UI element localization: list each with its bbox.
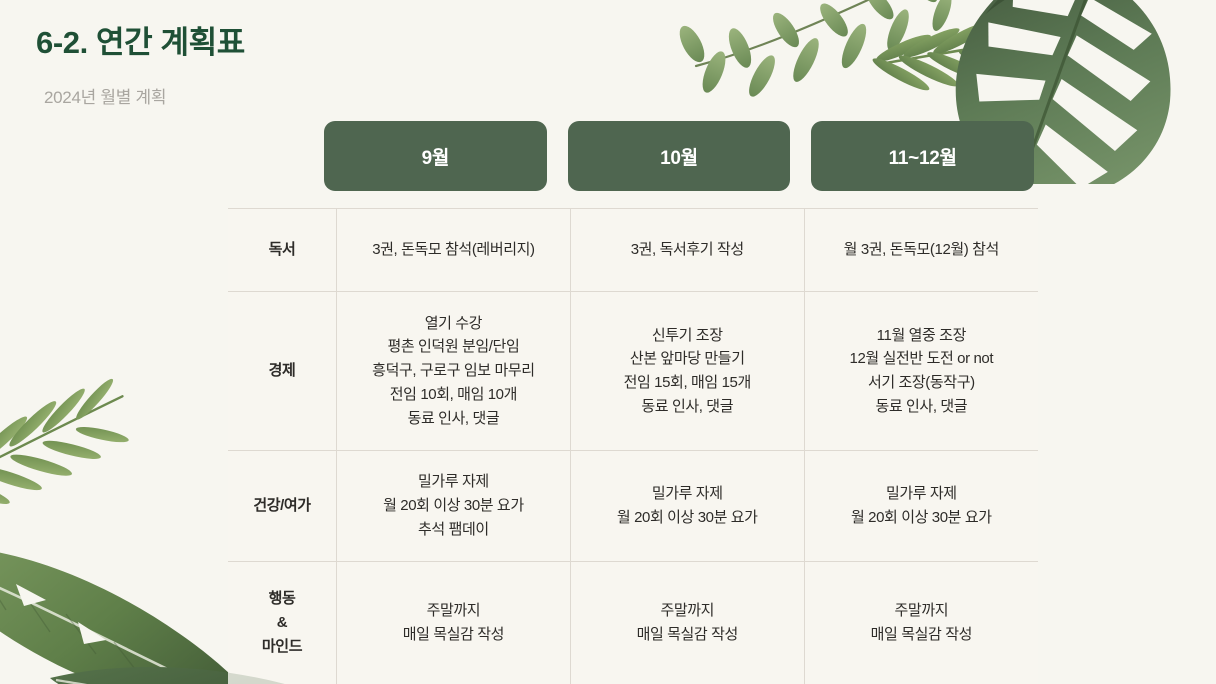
month-header-oct: 10월	[568, 121, 791, 191]
row-label-geongang: 건강/여가	[228, 451, 337, 562]
olive-branch-icon	[675, 0, 983, 100]
table-row: 독서 3권, 돈독모 참석(레버리지) 3권, 독서후기 작성 월 3권, 돈독…	[228, 209, 1038, 292]
cell-dokseo-nov-dec: 월 3권, 돈독모(12월) 참석	[804, 209, 1038, 292]
cell-dokseo-sep: 3권, 돈독모 참석(레버리지)	[337, 209, 571, 292]
cell-haengdong-sep: 주말까지 매일 목실감 작성	[337, 562, 571, 684]
month-header-label: 10월	[660, 143, 698, 170]
banana-leaf-icon	[0, 546, 264, 684]
cell-geongang-oct: 밀가루 자제 월 20회 이상 30분 요가	[570, 451, 804, 562]
cell-haengdong-nov-dec: 주말까지 매일 목실감 작성	[804, 562, 1038, 684]
month-header-sep: 9월	[324, 121, 547, 191]
table-row: 건강/여가 밀가루 자제 월 20회 이상 30분 요가 추석 팸데이 밀가루 …	[228, 451, 1038, 562]
palm-frond-icon	[866, 0, 1125, 136]
table-row: 행동 & 마인드 주말까지 매일 목실감 작성 주말까지 매일 목실감 작성 주…	[228, 562, 1038, 684]
month-header-label: 9월	[422, 143, 449, 170]
month-header-row: 9월 10월 11~12월	[324, 121, 1034, 191]
month-header-nov-dec: 11~12월	[811, 121, 1034, 191]
cell-haengdong-oct: 주말까지 매일 목실감 작성	[570, 562, 804, 684]
cell-geongang-sep: 밀가루 자제 월 20회 이상 30분 요가 추석 팸데이	[337, 451, 571, 562]
heading-block: 6-2. 연간 계획표 2024년 월별 계획	[36, 24, 245, 108]
cell-geongang-nov-dec: 밀가루 자제 월 20회 이상 30분 요가	[804, 451, 1038, 562]
page-subtitle: 2024년 월별 계획	[36, 61, 245, 108]
row-label-gyeongje: 경제	[228, 292, 337, 451]
cell-gyeongje-nov-dec: 11월 열중 조장 12월 실전반 도전 or not 서기 조장(동작구) 동…	[804, 292, 1038, 451]
cell-gyeongje-sep: 열기 수강 평촌 인덕원 분임/단임 흥덕구, 구로구 임보 마무리 전임 10…	[337, 292, 571, 451]
page-title: 6-2. 연간 계획표	[36, 24, 245, 61]
palm-frond-lower-icon	[0, 378, 137, 527]
row-label-dokseo: 독서	[228, 209, 337, 292]
month-header-label: 11~12월	[889, 143, 957, 170]
cell-gyeongje-oct: 신투기 조장 산본 앞마당 만들기 전임 15회, 매임 15개 동료 인사, …	[570, 292, 804, 451]
slide-canvas: 6-2. 연간 계획표 2024년 월별 계획 9월 10월 11~12월 독서…	[0, 0, 1216, 684]
cell-dokseo-oct: 3권, 독서후기 작성	[570, 209, 804, 292]
table-row: 경제 열기 수강 평촌 인덕원 분임/단임 흥덕구, 구로구 임보 마무리 전임…	[228, 292, 1038, 451]
row-label-haengdong: 행동 & 마인드	[228, 562, 337, 684]
annual-plan-table: 독서 3권, 돈독모 참석(레버리지) 3권, 독서후기 작성 월 3권, 돈독…	[228, 208, 1038, 684]
